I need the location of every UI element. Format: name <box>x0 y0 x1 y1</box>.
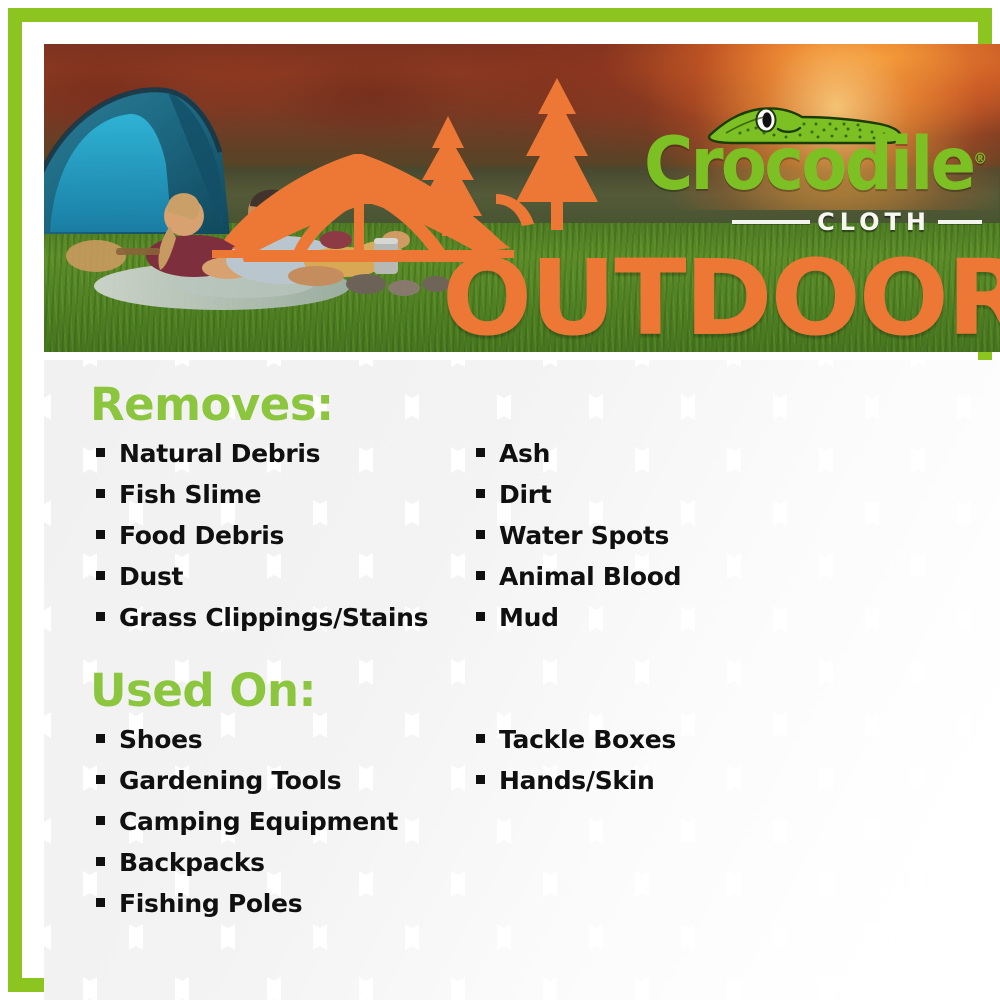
removes-list-right: Ash Dirt Water Spots Animal Blood Mud <box>476 440 896 632</box>
list-item-label: Camping Equipment <box>119 808 398 836</box>
list-item: Hands/Skin <box>476 767 896 795</box>
list-item: Mud <box>476 604 896 632</box>
list-item-label: Fishing Poles <box>119 890 302 918</box>
brand-logo: Crocodile® CLOTH <box>644 102 984 252</box>
bullet-square-icon <box>96 530 105 539</box>
used-on-list-right: Tackle Boxes Hands/Skin <box>476 726 896 795</box>
list-item: Fish Slime <box>96 481 516 509</box>
list-item-label: Dirt <box>499 481 551 509</box>
product-line-title: OUTDOOR <box>442 251 1000 347</box>
bullet-square-icon <box>476 734 485 743</box>
panel-content: Removes: Natural Debris Fish Slime Food … <box>44 360 1000 1000</box>
cloth-subtitle-row: CLOTH <box>732 206 982 238</box>
list-item: Natural Debris <box>96 440 516 468</box>
list-item-label: Tackle Boxes <box>499 726 676 754</box>
list-item-label: Ash <box>499 440 550 468</box>
used-on-column-left: Shoes Gardening Tools Camping Equipment … <box>96 726 516 931</box>
bullet-square-icon <box>96 857 105 866</box>
section-title-used-on: Used On: <box>90 664 316 717</box>
list-item-label: Hands/Skin <box>499 767 655 795</box>
bullet-square-icon <box>476 489 485 498</box>
cloth-rule-right <box>938 220 982 224</box>
bullet-square-icon <box>96 734 105 743</box>
list-item: Animal Blood <box>476 563 896 591</box>
bullet-square-icon <box>96 898 105 907</box>
list-item-label: Animal Blood <box>499 563 681 591</box>
list-item: Shoes <box>96 726 516 754</box>
list-item-label: Shoes <box>119 726 202 754</box>
list-item-label: Fish Slime <box>119 481 261 509</box>
used-on-column-right: Tackle Boxes Hands/Skin <box>476 726 896 808</box>
bullet-square-icon <box>476 775 485 784</box>
removes-column-left: Natural Debris Fish Slime Food Debris Du… <box>96 440 516 645</box>
bullet-square-icon <box>96 612 105 621</box>
green-border-frame: Crocodile® CLOTH OUTDOOR <box>8 8 992 992</box>
bullet-square-icon <box>476 448 485 457</box>
list-item: Fishing Poles <box>96 890 516 918</box>
list-item: Tackle Boxes <box>476 726 896 754</box>
list-item-label: Dust <box>119 563 183 591</box>
bullet-square-icon <box>96 489 105 498</box>
removes-list-left: Natural Debris Fish Slime Food Debris Du… <box>96 440 516 632</box>
registered-trademark: ® <box>973 150 987 168</box>
list-item: Dirt <box>476 481 896 509</box>
list-item: Water Spots <box>476 522 896 550</box>
product-infographic-card: Crocodile® CLOTH OUTDOOR <box>0 0 1000 1000</box>
list-item-label: Backpacks <box>119 849 265 877</box>
list-item-label: Food Debris <box>119 522 284 550</box>
bullet-square-icon <box>476 530 485 539</box>
bullet-square-icon <box>476 612 485 621</box>
section-title-removes: Removes: <box>90 378 334 431</box>
cloth-rule-left <box>732 220 810 224</box>
list-item: Gardening Tools <box>96 767 516 795</box>
list-item: Camping Equipment <box>96 808 516 836</box>
removes-column-right: Ash Dirt Water Spots Animal Blood Mud <box>476 440 896 645</box>
bullet-square-icon <box>96 775 105 784</box>
list-item: Grass Clippings/Stains <box>96 604 516 632</box>
list-item-label: Water Spots <box>499 522 669 550</box>
hero-banner: Crocodile® CLOTH OUTDOOR <box>44 44 1000 352</box>
brand-wordmark: Crocodile® <box>644 128 957 201</box>
bullet-square-icon <box>476 571 485 580</box>
camping-scene-subjects <box>44 44 474 352</box>
used-on-list-left: Shoes Gardening Tools Camping Equipment … <box>96 726 516 918</box>
bullet-square-icon <box>96 816 105 825</box>
bullet-square-icon <box>96 571 105 580</box>
brand-sub-name: CLOTH <box>817 208 931 236</box>
list-item-label: Natural Debris <box>119 440 320 468</box>
list-item-label: Mud <box>499 604 559 632</box>
list-item: Food Debris <box>96 522 516 550</box>
content-panel: Removes: Natural Debris Fish Slime Food … <box>44 360 1000 1000</box>
list-item: Ash <box>476 440 896 468</box>
list-item: Backpacks <box>96 849 516 877</box>
list-item-label: Gardening Tools <box>119 767 341 795</box>
list-item-label: Grass Clippings/Stains <box>119 604 428 632</box>
bullet-square-icon <box>96 448 105 457</box>
brand-name: Crocodile <box>644 122 973 207</box>
list-item: Dust <box>96 563 516 591</box>
